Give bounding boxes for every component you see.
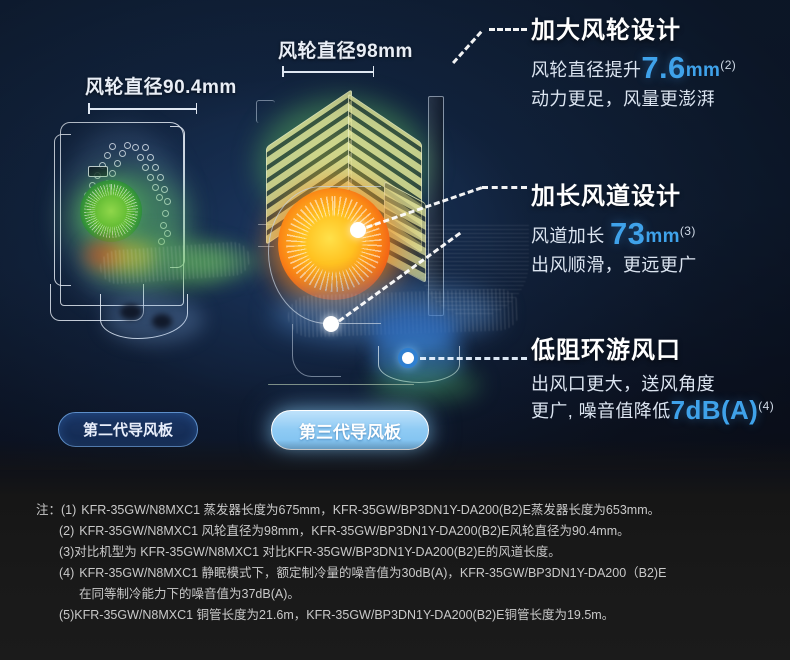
marker-dot-outlet <box>398 348 418 368</box>
callout-3-footnote-ref: (4) <box>758 399 774 413</box>
footnote-row: (3) 对比机型为 KFR-35GW/N8MXC1 对比KFR-35GW/BP3… <box>0 542 790 563</box>
callout-3-subtext: 出风口更大，送风角度 <box>531 372 774 396</box>
callout-3-unit: dB(A) <box>685 395 758 425</box>
callout-1-footnote-ref: (2) <box>720 58 736 72</box>
footnotes: 注： (1) KFR-35GW/N8MXC1 蒸发器长度为675mm，KFR-3… <box>0 500 790 626</box>
cfd-render-gen2 <box>52 108 257 393</box>
callout-2-subtext: 出风顺滑，更远更广 <box>531 252 697 279</box>
footnote-number: (2) <box>59 521 74 542</box>
footnote-row: (2) KFR-35GW/N8MXC1 风轮直径为98mm，KFR-35GW/B… <box>0 521 790 542</box>
footnote-row: 注： (1) KFR-35GW/N8MXC1 蒸发器长度为675mm，KFR-3… <box>0 500 790 521</box>
footnote-row: 在同等制冷能力下的噪音值为37dB(A)。 <box>0 584 790 605</box>
callout-3-title: 低阻环游风口 <box>531 338 774 364</box>
footnote-text: KFR-35GW/N8MXC1 静眠模式下，额定制冷量的噪音值为30dB(A)，… <box>79 563 666 584</box>
callout-2-value: 73 <box>610 216 645 251</box>
callout-low-resistance-outlet: 低阻环游风口 出风口更大，送风角度 更广, 噪音值降低7dB(A)(4) <box>531 338 774 423</box>
dimension-line-gen3 <box>282 66 374 77</box>
dimension-label-gen2: 风轮直径90.4mm <box>85 72 237 99</box>
callout-1-title: 加大风轮设计 <box>531 18 736 44</box>
footnote-text: 在同等制冷能力下的噪音值为37dB(A)。 <box>79 584 300 605</box>
callout-3-metric: 更广, 噪音值降低7dB(A)(4) <box>531 397 774 423</box>
footnote-number: (5) <box>59 605 74 626</box>
footnote-number: (3) <box>59 542 74 563</box>
footnote-row: (4) KFR-35GW/N8MXC1 静眠模式下，额定制冷量的噪音值为30dB… <box>0 563 790 584</box>
callout-1-lead: 风轮直径提升 <box>531 60 641 80</box>
footnote-text: KFR-35GW/N8MXC1 蒸发器长度为675mm，KFR-35GW/BP3… <box>81 500 660 521</box>
callout-3-value: 7 <box>671 395 686 425</box>
connector-line-2-horizontal <box>482 186 527 189</box>
footnote-prefix: 注： <box>36 500 61 521</box>
footnote-row: (5) KFR-35GW/N8MXC1 铜管长度为21.6m，KFR-35GW/… <box>0 605 790 626</box>
footnote-number: (4) <box>59 563 74 584</box>
footnote-text: KFR-35GW/N8MXC1 铜管长度为21.6m，KFR-35GW/BP3D… <box>74 605 614 626</box>
dimension-label-gen3: 风轮直径98mm <box>278 36 413 63</box>
callout-larger-fan: 加大风轮设计 风轮直径提升7.6mm(2) 动力更足，风量更澎湃 <box>531 18 736 113</box>
footnote-text: 对比机型为 KFR-35GW/N8MXC1 对比KFR-35GW/BP3DN1Y… <box>74 542 560 563</box>
footnote-number: (1) <box>61 500 76 521</box>
callout-2-metric: 风道加长 73mm(3) <box>531 218 697 252</box>
callout-1-value: 7.6 <box>641 50 685 85</box>
footnote-text: KFR-35GW/N8MXC1 风轮直径为98mm，KFR-35GW/BP3DN… <box>79 521 629 542</box>
connector-line-1-horizontal <box>489 28 527 31</box>
marker-dot-duct <box>323 316 339 332</box>
callout-1-subtext: 动力更足，风量更澎湃 <box>531 86 736 113</box>
callout-3-lead: 更广, 噪音值降低 <box>531 401 671 421</box>
callout-2-unit: mm <box>645 226 680 247</box>
callout-2-footnote-ref: (3) <box>680 224 696 238</box>
callout-1-metric: 风轮直径提升7.6mm(2) <box>531 52 736 86</box>
callout-2-title: 加长风道设计 <box>531 184 697 210</box>
callout-2-lead: 风道加长 <box>531 226 605 246</box>
dimension-line-gen2 <box>88 103 197 114</box>
promo-banner: 风轮直径90.4mm 风轮直径98mm 第二代导风板 第三代导风板 加大风轮设计… <box>0 0 790 660</box>
connector-line-3 <box>420 357 527 360</box>
marker-dot-fan <box>350 222 366 238</box>
callout-longer-duct: 加长风道设计 风道加长 73mm(3) 出风顺滑，更远更广 <box>531 184 697 279</box>
callout-1-unit: mm <box>686 60 721 81</box>
